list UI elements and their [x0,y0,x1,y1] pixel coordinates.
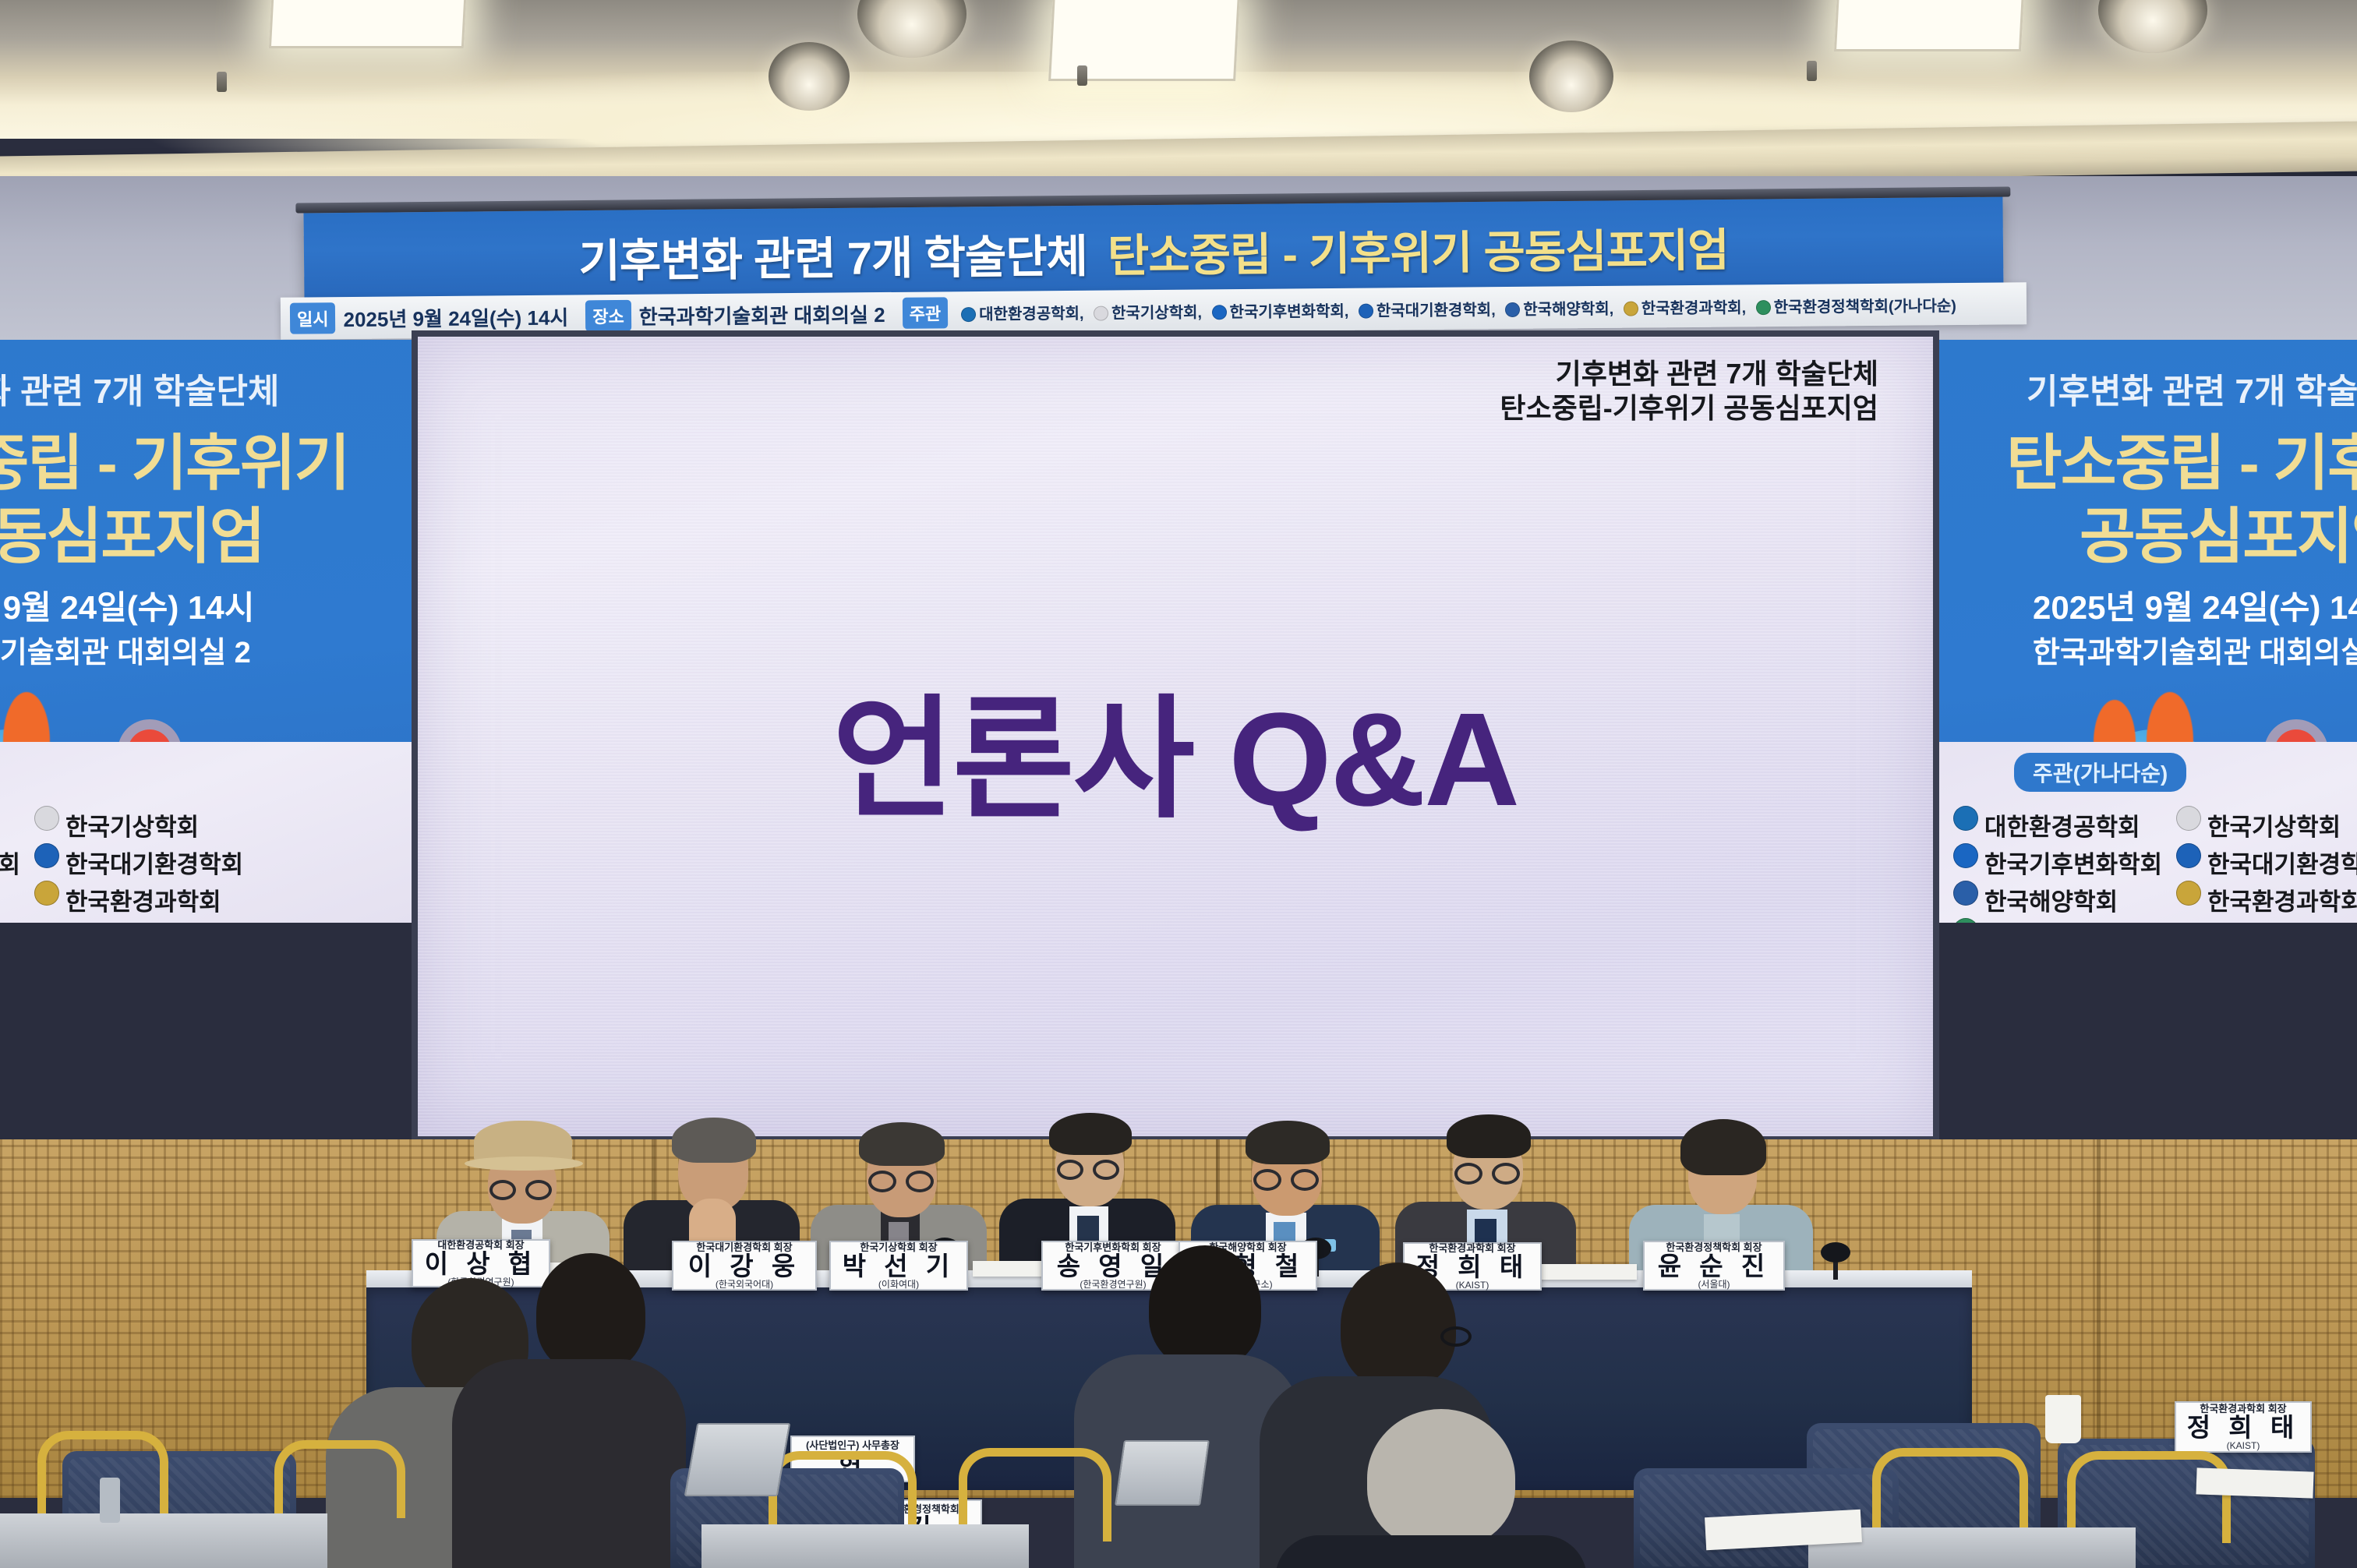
poster-subtitle: 기후변화 관련 7개 학술단체 [2027,363,2357,413]
poster-date: 2025년 9월 24일(수) 14시 [0,581,254,629]
audience-shoulders [452,1359,686,1568]
chair-armrest [274,1440,405,1518]
audience-head [1341,1263,1456,1389]
keps-logo-icon [1953,918,1978,923]
nameplate-affiliation: (서울대) [1698,1280,1730,1289]
poster-org-box: 주관(가나다순) 대한환경공학회 한국기상학회 한국기후변화학회 한국대기환경학… [0,742,421,923]
ksee-logo-icon [961,306,976,321]
poster-subtitle: 기후변화 관련 7개 학술단체 [0,363,279,413]
audience-member [452,1253,686,1568]
panelist-hair [1049,1113,1132,1155]
poster-org-name: 한국환경과학회 [2207,882,2357,917]
kosae-logo-icon [34,843,59,868]
nameplate-empty-seat-1: 한국환경과학회 회장 정 희 태 (KAIST) [2175,1401,2312,1453]
panelist-glasses [1093,1160,1119,1180]
nameplate-name: 박 선 기 [843,1252,955,1280]
ceiling-round-light [1529,41,1613,112]
panelist-glasses [1454,1163,1482,1185]
kenss-logo-icon [34,881,59,906]
kscc-logo-icon [1953,843,1978,868]
panelist-hair [1246,1121,1330,1164]
poster-title-2: 공동심포지엄 [0,488,264,575]
panelist-glasses [525,1180,552,1200]
slide-title: 언론사 Q&A [418,652,1933,843]
nameplate-name: 윤 순 진 [1658,1252,1770,1280]
nameplate-panelist-3: 한국기상학회 회장 박 선 기 (이화여대) [829,1241,968,1291]
ceiling-spotlight [217,72,227,92]
nameplate-affiliation: (KAIST) [2227,1441,2260,1450]
nameplate-role: 대한환경공학회 회장 [437,1240,524,1250]
audience-member [1275,1409,1587,1568]
desk-surface [701,1524,1029,1568]
panelist-glasses [906,1171,934,1192]
ksee-logo-icon [1953,806,1978,831]
date-chip: 일시 [290,302,336,334]
slide-header-line1: 기후변화 관련 7개 학술단체 [1500,357,1878,391]
poster-org-name: 한국대기환경학회 [65,845,243,880]
nameplate-panelist-2: 한국대기환경학회 회장 이 강 웅 (한국외국어대) [672,1241,817,1291]
panelist-glasses [489,1180,516,1200]
document-papers [2196,1467,2313,1498]
host-organizations: 대한환경공학회, 한국기상학회, 한국기후변화학회, 한국대기환경학회, 한국해… [956,293,1956,324]
poster-left: 기후변화 관련 7개 학술단체 탄소중립 - 기후위기 공동심포지엄 2025년… [0,340,421,923]
poster-place: 한국과학기술회관 대회의실 2 [2033,628,2357,671]
ceiling-panel-light [269,0,468,48]
audience-glasses-icon [1440,1326,1472,1347]
poster-place: 한국과학기술회관 대회의실 2 [0,628,251,671]
ceiling-spotlight [1077,65,1087,86]
nameplate-role: 한국대기환경학회 회장 [696,1242,792,1252]
poster-org-name: 한국환경정책학회 [0,920,20,923]
nameplate-panelist-7: 한국환경정책학회 회장 윤 순 진 (서울대) [1643,1241,1785,1291]
desk-surface [0,1513,327,1568]
kms-logo-icon [2176,806,2201,831]
date-value: 2025년 9월 24일(수) 14시 [343,302,568,333]
laptop[interactable] [684,1423,791,1496]
nameplate-role: 한국환경과학회 회장 [2200,1404,2286,1414]
hat-brim [465,1157,583,1171]
nameplate-name: 정 희 태 [2187,1414,2299,1442]
microphone-icon [1821,1242,1850,1263]
poster-org-name: 한국기상학회 [2207,807,2341,842]
kenss-logo-icon [1624,301,1638,316]
projection-screen: 기후변화 관련 7개 학술단체 탄소중립-기후위기 공동심포지엄 언론사 Q&A [418,337,1933,1136]
nameplate-role: 한국환경과학회 회장 [1429,1243,1515,1253]
audience-head [536,1253,645,1373]
paper-cup [2045,1395,2081,1443]
ceiling-round-light [769,42,850,111]
place-chip: 장소 [585,300,631,332]
banner-subtitle: 기후변화 관련 7개 학술단체 [578,220,1087,290]
kscc-logo-icon [1212,305,1227,320]
poster-org-name: 한국기후변화학회 [1984,845,2162,880]
poster-org-name: 한국환경과학회 [65,882,221,917]
poster-org-name: 한국기상학회 [65,807,199,842]
nameplate-affiliation: (한국외국어대) [716,1280,773,1289]
kosae-logo-icon [1359,303,1373,318]
poster-org-name: 한국환경정책학회 [1984,920,2162,923]
panelist-glasses [1291,1169,1319,1191]
slide-header-line2: 탄소중립-기후위기 공동심포지엄 [1500,391,1878,426]
kenss-logo-icon [2176,881,2201,906]
audience-head [1367,1409,1515,1548]
banner-title: 탄소중립 - 기후위기 공동심포지엄 [1108,214,1729,285]
poster-org-name: 한국기후변화학회 [0,845,20,880]
slide-header: 기후변화 관련 7개 학술단체 탄소중립-기후위기 공동심포지엄 [1500,357,1878,426]
place-value: 한국과학기술회관 대회의실 2 [639,299,885,330]
nameplate-role: (사단법인구) 사무총장 [806,1440,899,1450]
nameplate-name: 이 강 웅 [688,1252,800,1280]
audience-shoulders [1275,1535,1587,1568]
kso-logo-icon [1505,302,1520,316]
kms-logo-icon [34,806,59,831]
host-chip: 주관 [902,297,948,329]
nameplate-role: 한국환경정책학회 회장 [1666,1242,1762,1252]
panelist-glasses [1057,1160,1083,1180]
poster-org-name: 한국대기환경학회 [2207,845,2357,880]
panelist-hair [672,1118,756,1163]
audience-head [1149,1245,1261,1368]
poster-right: 기후변화 관련 7개 학술단체 탄소중립 - 기후위기 공동심포지엄 2025년… [1939,340,2357,923]
poster-date: 2025년 9월 24일(수) 14시 [2033,581,2357,629]
poster-title-2: 공동심포지엄 [2080,488,2357,575]
panelist-hair [1680,1119,1766,1175]
poster-org-name: 한국해양학회 [1984,882,2118,917]
panelist-hair [1447,1114,1531,1158]
nameplate-affiliation: (이화여대) [878,1280,919,1289]
keps-logo-icon [1756,300,1771,315]
panelist-glasses [1492,1163,1520,1185]
nameplate-role: 한국기상학회 회장 [860,1242,937,1252]
kms-logo-icon [1094,305,1108,320]
poster-host-badge: 주관(가나다순) [2014,753,2186,792]
kosae-logo-icon [2176,843,2201,868]
water-bottle [100,1478,120,1523]
panelist-hair [859,1122,945,1166]
panelist-glasses [868,1171,896,1192]
conference-photo-scene: 기후변화 관련 7개 학술단체 탄소중립 - 기후위기 공동심포지엄 일시 20… [0,0,2357,1568]
ceiling-panel-light [1834,0,2026,51]
panelist-glasses [1253,1169,1281,1191]
poster-org-box: 주관(가나다순) 대한환경공학회 한국기상학회 한국기후변화학회 한국대기환경학… [1939,742,2357,923]
kso-logo-icon [1953,881,1978,906]
poster-org-name: 대한환경공학회 [1984,807,2140,842]
ceiling-spotlight [1807,61,1817,81]
laptop[interactable] [1115,1440,1210,1506]
